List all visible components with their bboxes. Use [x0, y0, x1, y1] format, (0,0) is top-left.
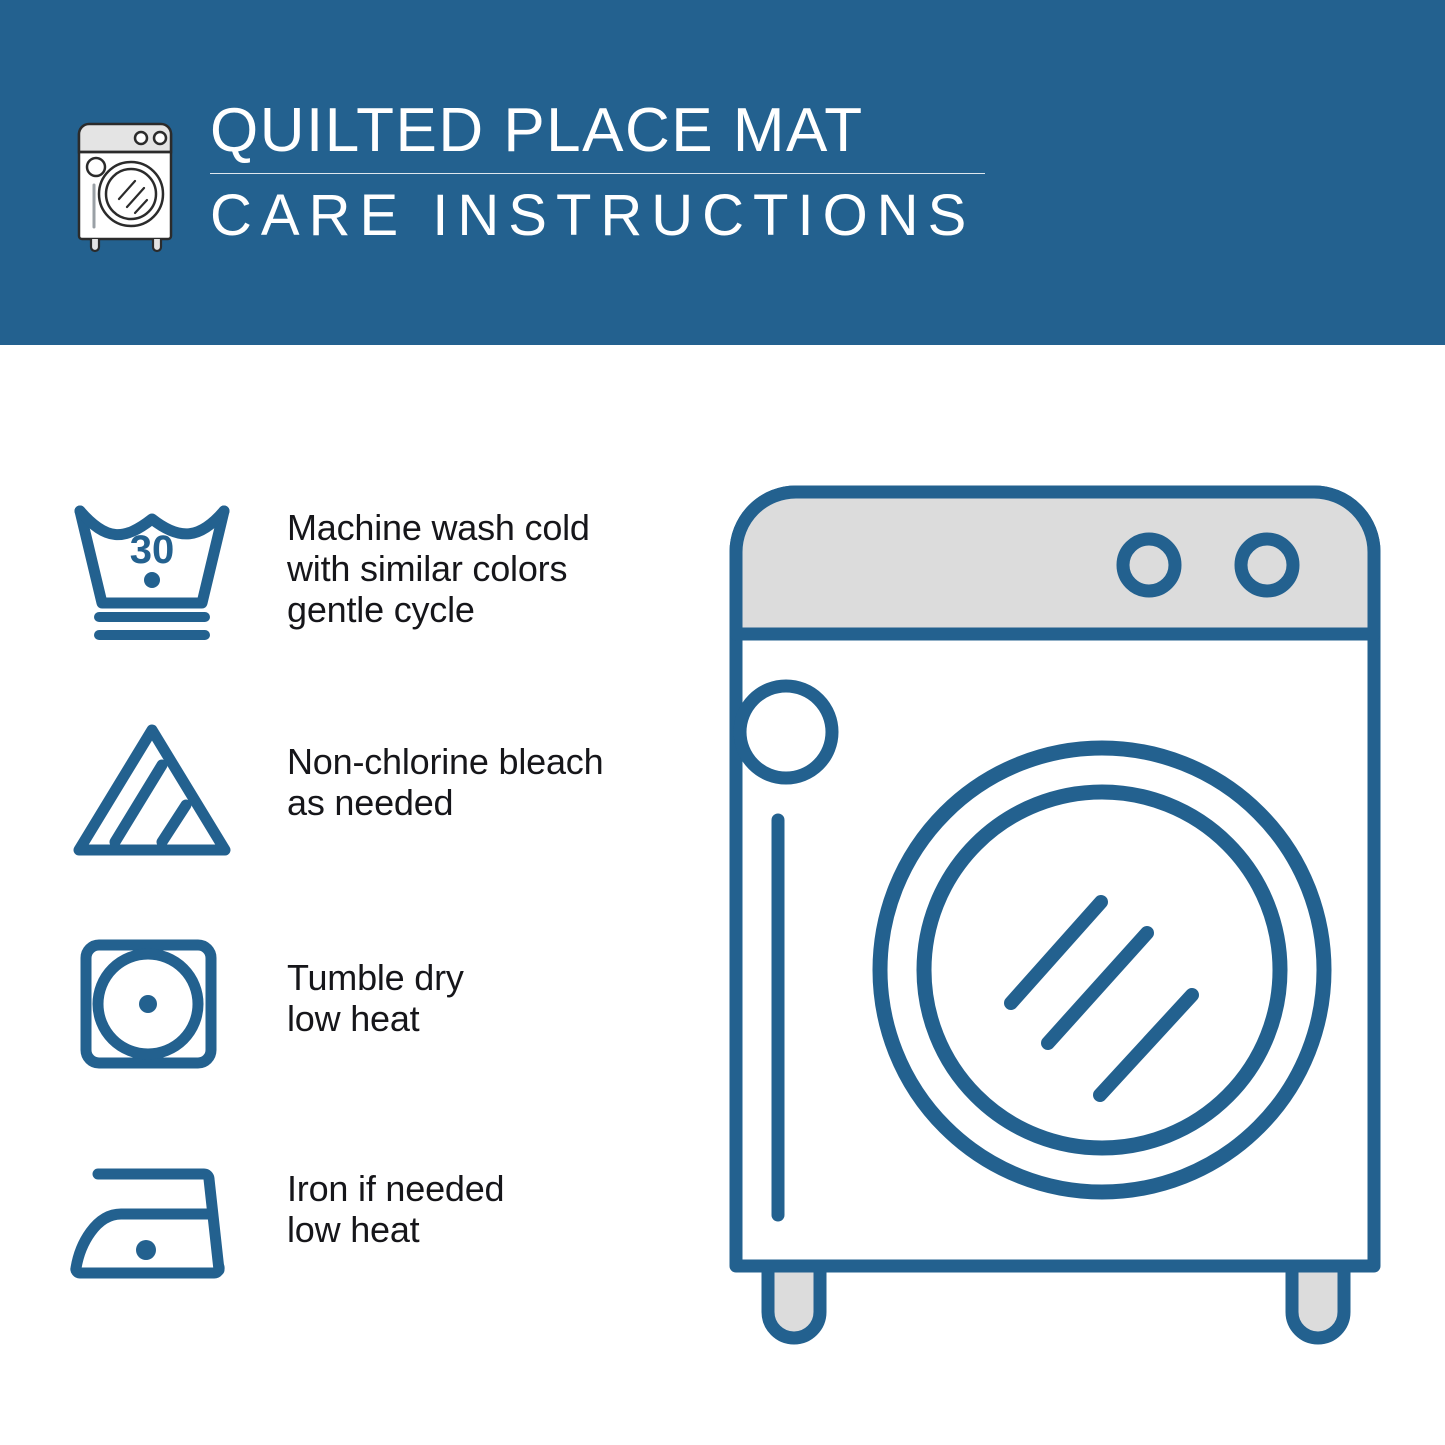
care-row-tumble-dry: Tumble dry low heat — [62, 915, 702, 1130]
care-symbol-list: 30 Machine wash cold with similar colors… — [62, 485, 702, 1345]
care-label-line: Tumble dry — [287, 957, 702, 998]
care-label-iron: Iron if needed low heat — [287, 1168, 702, 1250]
front-load-washing-machine-illustration — [700, 470, 1410, 1360]
non-chlorine-bleach-icon — [62, 712, 242, 877]
washing-machine-icon — [65, 103, 185, 253]
care-label-line: Machine wash cold — [287, 507, 702, 548]
care-label-tumble-dry: Tumble dry low heat — [287, 957, 702, 1039]
machine-wash-30-gentle-icon: 30 — [62, 485, 242, 650]
title-divider — [210, 173, 985, 174]
knob-right — [1241, 539, 1293, 591]
iron-low-heat-icon — [62, 1152, 242, 1317]
care-label-line: Non-chlorine bleach — [287, 741, 702, 782]
wash-temperature-value: 30 — [130, 528, 175, 572]
header-content: QUILTED PLACE MAT CARE INSTRUCTIONS — [65, 95, 1025, 265]
care-label-machine-wash: Machine wash cold with similar colors ge… — [287, 507, 702, 630]
care-label-line: as needed — [287, 782, 702, 823]
detergent-drawer-circle — [740, 686, 832, 778]
leg-right — [1292, 1266, 1344, 1338]
care-label-bleach: Non-chlorine bleach as needed — [287, 741, 702, 823]
header-band: QUILTED PLACE MAT CARE INSTRUCTIONS — [0, 0, 1445, 345]
care-label-line: Iron if needed — [287, 1168, 702, 1209]
care-instructions-infographic: QUILTED PLACE MAT CARE INSTRUCTIONS 30 — [0, 0, 1445, 1445]
tumble-dry-low-icon — [62, 923, 242, 1088]
care-row-iron: Iron if needed low heat — [62, 1130, 702, 1345]
care-label-line: low heat — [287, 998, 702, 1039]
page-subtitle: CARE INSTRUCTIONS — [210, 182, 1030, 250]
header-text-block: QUILTED PLACE MAT CARE INSTRUCTIONS — [210, 95, 1030, 250]
care-row-bleach: Non-chlorine bleach as needed — [62, 700, 702, 915]
knob-left — [1123, 539, 1175, 591]
care-row-machine-wash: 30 Machine wash cold with similar colors… — [62, 485, 702, 700]
leg-left — [768, 1266, 820, 1338]
care-label-line: low heat — [287, 1209, 702, 1250]
page-title: QUILTED PLACE MAT — [210, 95, 1030, 167]
care-label-line: with similar colors — [287, 548, 702, 589]
care-label-line: gentle cycle — [287, 589, 702, 630]
